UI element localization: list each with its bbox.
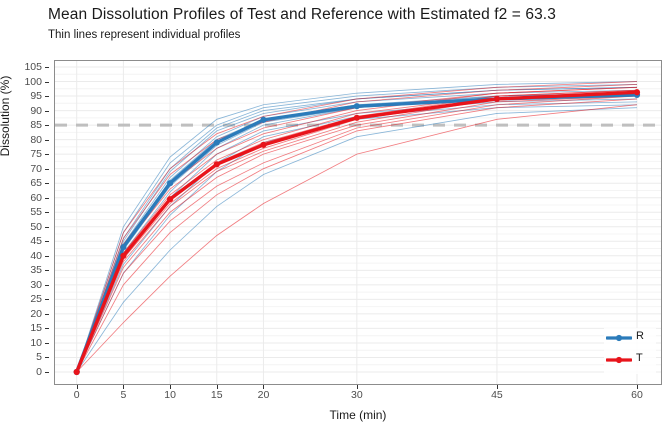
x-axis-tick-mark bbox=[123, 385, 124, 389]
y-axis-tick-mark bbox=[45, 96, 49, 97]
y-axis-tick-mark bbox=[45, 270, 49, 271]
y-axis-tick-mark bbox=[45, 140, 49, 141]
y-axis-tick-mark bbox=[45, 299, 49, 300]
y-axis-tick-label: 25 bbox=[30, 293, 42, 305]
y-axis-tick-mark bbox=[45, 125, 49, 126]
mean-point-test bbox=[634, 89, 640, 95]
x-axis-tick-label: 20 bbox=[258, 389, 270, 401]
y-axis-tick-mark bbox=[45, 328, 49, 329]
mean-point-reference bbox=[167, 180, 173, 186]
x-axis-tick-label: 45 bbox=[491, 389, 503, 401]
legend: RT bbox=[604, 328, 656, 374]
y-axis-tick-mark bbox=[45, 198, 49, 199]
y-axis-tick-label: 45 bbox=[30, 235, 42, 247]
y-axis-tick-label: 0 bbox=[36, 366, 42, 378]
x-axis-tick-label: 5 bbox=[120, 389, 126, 401]
y-axis-tick-label: 30 bbox=[30, 279, 42, 291]
mean-point-test bbox=[214, 161, 220, 167]
legend-key-swatch bbox=[606, 354, 632, 366]
mean-point-reference bbox=[354, 103, 360, 109]
plot-area bbox=[54, 60, 662, 385]
y-axis-tick-label: 100 bbox=[24, 76, 42, 88]
legend-key-swatch bbox=[606, 332, 632, 344]
legend-item-t[interactable]: T bbox=[604, 350, 656, 370]
mean-point-test bbox=[74, 369, 80, 375]
mean-point-test bbox=[260, 142, 266, 148]
mean-point-reference bbox=[120, 244, 126, 250]
y-axis-tick-label: 5 bbox=[36, 351, 42, 363]
mean-point-test bbox=[354, 115, 360, 121]
y-axis-tick-mark bbox=[45, 154, 49, 155]
x-axis-tick-mark bbox=[217, 385, 218, 389]
y-axis-tick-mark bbox=[45, 82, 49, 83]
mean-point-test bbox=[120, 253, 126, 259]
mean-point-reference bbox=[260, 117, 266, 123]
chart-title: Mean Dissolution Profiles of Test and Re… bbox=[48, 6, 556, 24]
y-axis-tick-mark bbox=[45, 285, 49, 286]
legend-item-r[interactable]: R bbox=[604, 328, 656, 348]
y-axis-tick-label: 95 bbox=[30, 90, 42, 102]
y-axis-tick-label: 85 bbox=[30, 119, 42, 131]
mean-point-reference bbox=[214, 139, 220, 145]
plot-svg bbox=[55, 61, 661, 384]
x-axis-tick-label: 0 bbox=[74, 389, 80, 401]
x-axis-tick-label: 10 bbox=[164, 389, 176, 401]
x-axis-tick-mark bbox=[497, 385, 498, 389]
x-axis-label: Time (min) bbox=[54, 408, 662, 422]
y-axis-tick-label: 105 bbox=[24, 61, 42, 73]
y-axis-tick-label: 35 bbox=[30, 264, 42, 276]
y-axis-tick-label: 70 bbox=[30, 163, 42, 175]
y-axis-tick-label: 50 bbox=[30, 221, 42, 233]
y-axis-tick-mark bbox=[45, 343, 49, 344]
chart-subtitle: Thin lines represent individual profiles bbox=[48, 29, 240, 41]
x-axis-tick-mark bbox=[263, 385, 264, 389]
y-axis-tick-mark bbox=[45, 372, 49, 373]
x-axis-tick-mark bbox=[170, 385, 171, 389]
y-axis-tick-label: 65 bbox=[30, 177, 42, 189]
y-axis-tick-label: 60 bbox=[30, 192, 42, 204]
y-axis-tick-label: 75 bbox=[30, 148, 42, 160]
y-axis-tick-label: 15 bbox=[30, 322, 42, 334]
y-axis-tick-label: 90 bbox=[30, 105, 42, 117]
y-axis-tick-mark bbox=[45, 357, 49, 358]
x-axis-tick-mark bbox=[77, 385, 78, 389]
y-axis-tick-mark bbox=[45, 241, 49, 242]
y-axis-tick-mark bbox=[45, 67, 49, 68]
mean-point-test bbox=[494, 96, 500, 102]
y-axis-tick-label: 80 bbox=[30, 134, 42, 146]
y-axis-tick-mark bbox=[45, 314, 49, 315]
x-axis-tick-mark bbox=[637, 385, 638, 389]
y-axis-tick-mark bbox=[45, 183, 49, 184]
y-axis-tick-label: 40 bbox=[30, 250, 42, 262]
y-axis-tick-mark bbox=[45, 227, 49, 228]
legend-label: T bbox=[636, 352, 643, 364]
y-axis-tick-mark bbox=[45, 169, 49, 170]
x-axis-tick-mark bbox=[357, 385, 358, 389]
y-axis-tick-label: 55 bbox=[30, 206, 42, 218]
chart-root: Mean Dissolution Profiles of Test and Re… bbox=[0, 0, 672, 432]
mean-point-test bbox=[167, 196, 173, 202]
x-axis-tick-label: 30 bbox=[351, 389, 363, 401]
x-axis-tick-label: 15 bbox=[211, 389, 223, 401]
y-axis-tick-mark bbox=[45, 212, 49, 213]
legend-label: R bbox=[636, 330, 644, 342]
y-axis-label: Dissolution (%) bbox=[0, 46, 12, 186]
y-axis-tick-label: 20 bbox=[30, 308, 42, 320]
y-axis-tick-mark bbox=[45, 111, 49, 112]
x-axis-tick-label: 60 bbox=[631, 389, 643, 401]
y-axis-tick-mark bbox=[45, 256, 49, 257]
y-axis-tick-label: 10 bbox=[30, 337, 42, 349]
